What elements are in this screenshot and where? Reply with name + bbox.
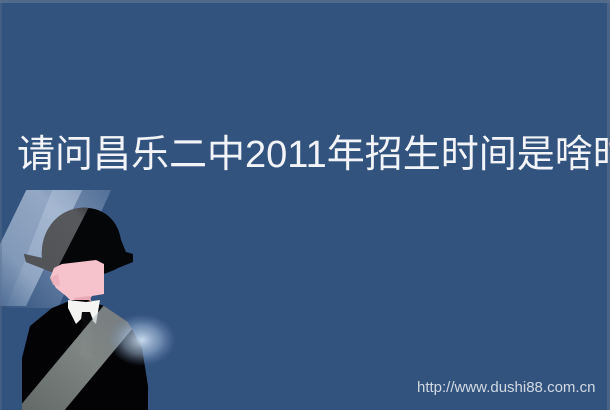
- image-canvas: 请问昌乐二中2011年招生时间是啥时候 http://www.dushi88.c…: [0, 0, 610, 410]
- man-in-fedora-illustration: [0, 190, 200, 410]
- left-edge-border: [0, 0, 2, 410]
- watermark-url: http://www.dushi88.com.cn: [417, 379, 595, 397]
- headline-text: 请问昌乐二中2011年招生时间是啥时候: [17, 131, 597, 181]
- top-edge-border: [0, 0, 610, 3]
- shoulder-glow: [108, 314, 176, 366]
